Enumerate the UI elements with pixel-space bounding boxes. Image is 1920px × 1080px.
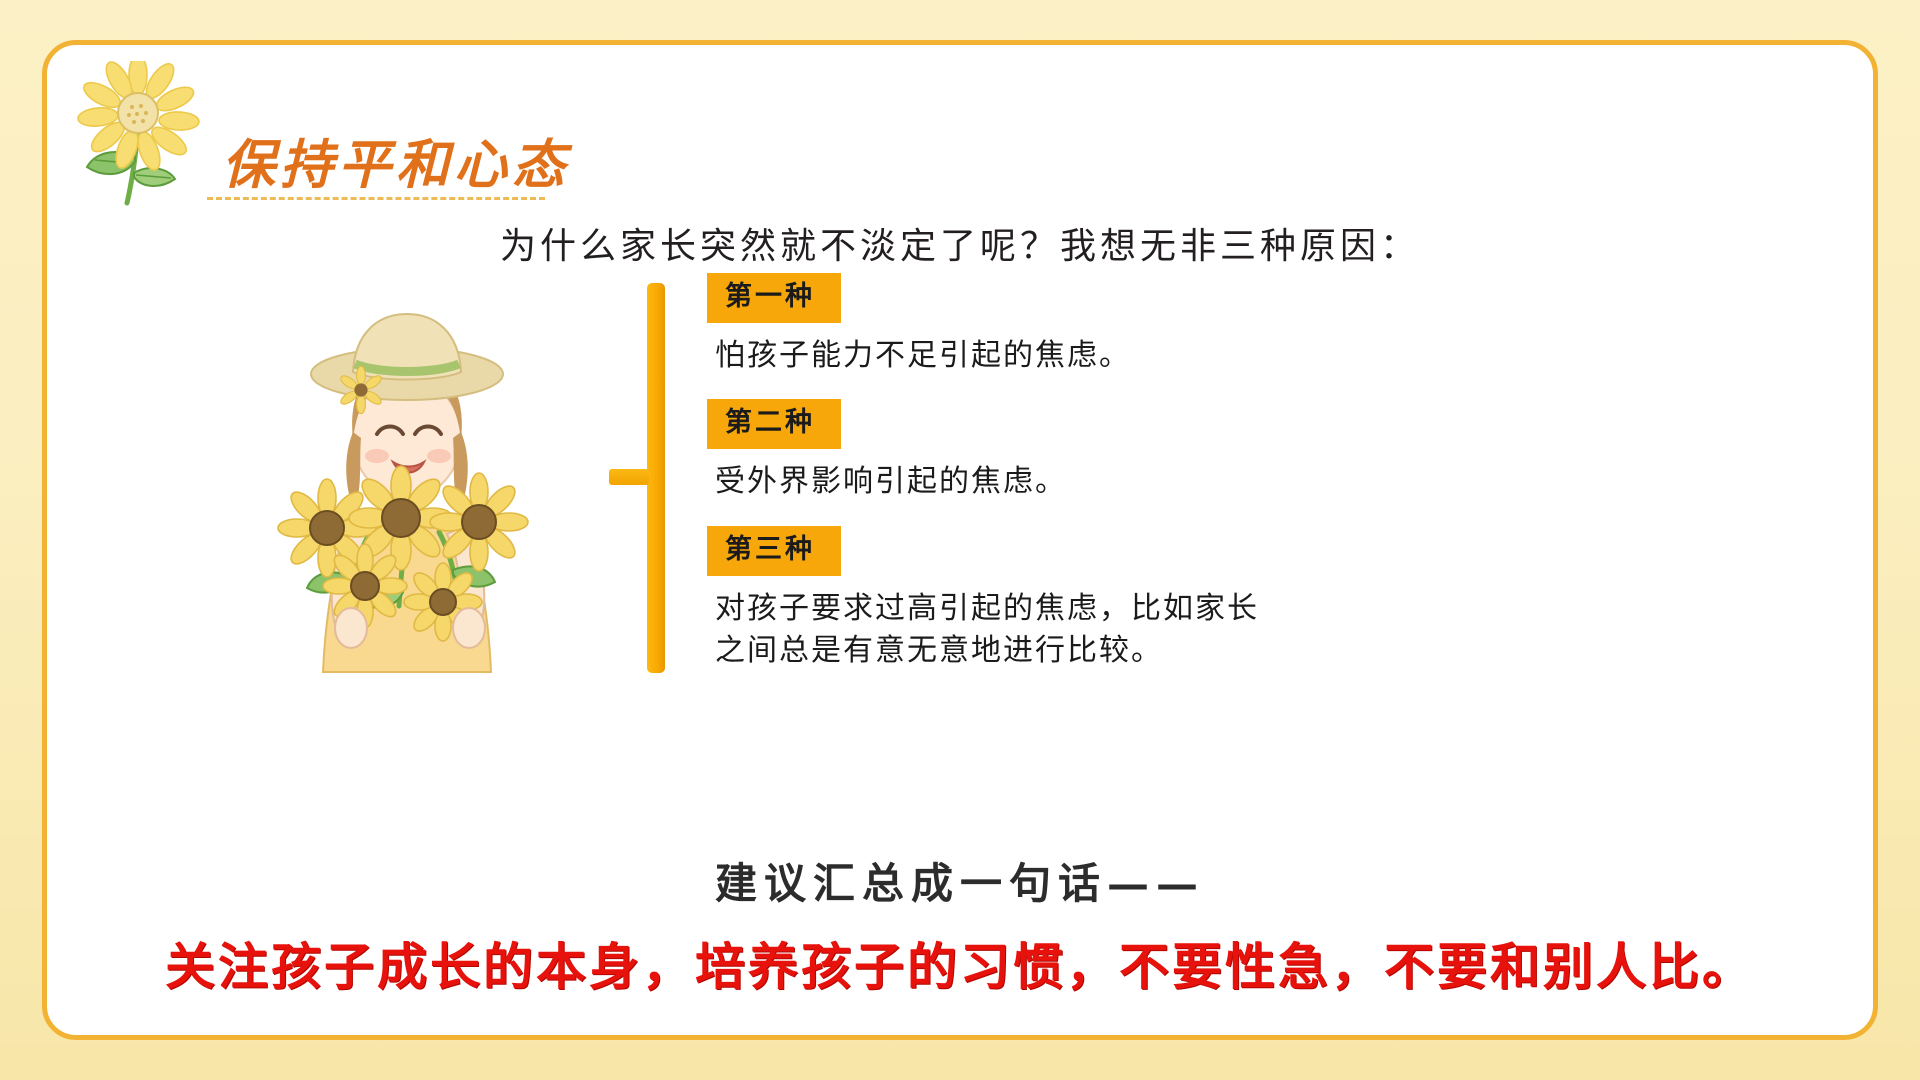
question-line: 为什么家长突然就不淡定了呢？我想无非三种原因： — [47, 217, 1873, 269]
bracket-horizontal-tick — [609, 469, 649, 485]
reason-tag-2: 第二种 — [707, 399, 841, 449]
reason-tag-3: 第三种 — [707, 526, 841, 576]
list-item: 第二种 受外界影响引起的焦虑。 — [707, 399, 1727, 503]
reason-list: 第一种 怕孩子能力不足引起的焦虑。 第二种 受外界影响引起的焦虑。 第三种 对孩… — [707, 273, 1727, 673]
reason-text-1: 怕孩子能力不足引起的焦虑。 — [715, 335, 1727, 378]
sunflower-icon — [75, 61, 205, 206]
title-underline-divider — [207, 197, 545, 200]
slide-header: 保持平和心态 — [47, 45, 1873, 195]
bracket-vertical-bar — [647, 283, 665, 673]
conclusion-lead-text: 建议汇总成一句话—— — [47, 850, 1873, 911]
slide-canvas: 保持平和心态 为什么家长突然就不淡定了呢？我想无非三种原因： — [0, 0, 1920, 1080]
conclusion-block: 建议汇总成一句话—— 关注孩子成长的本身，培养孩子的习惯，不要性急，不要和别人比… — [47, 850, 1873, 999]
girl-with-sunflowers-illustration — [227, 270, 587, 680]
reason-text-3: 对孩子要求过高引起的焦虑，比如家长 之间总是有意无意地进行比较。 — [715, 588, 1727, 673]
reason-tag-1: 第一种 — [707, 273, 841, 323]
list-item: 第一种 怕孩子能力不足引起的焦虑。 — [707, 273, 1727, 377]
page-title: 保持平和心态 — [222, 123, 570, 199]
slide-card: 保持平和心态 为什么家长突然就不淡定了呢？我想无非三种原因： — [42, 40, 1878, 1040]
conclusion-main-text: 关注孩子成长的本身，培养孩子的习惯，不要性急，不要和别人比。 — [47, 927, 1873, 999]
list-item: 第三种 对孩子要求过高引起的焦虑，比如家长 之间总是有意无意地进行比较。 — [707, 526, 1727, 673]
reason-text-2: 受外界影响引起的焦虑。 — [715, 461, 1727, 504]
orange-bracket — [609, 283, 671, 673]
